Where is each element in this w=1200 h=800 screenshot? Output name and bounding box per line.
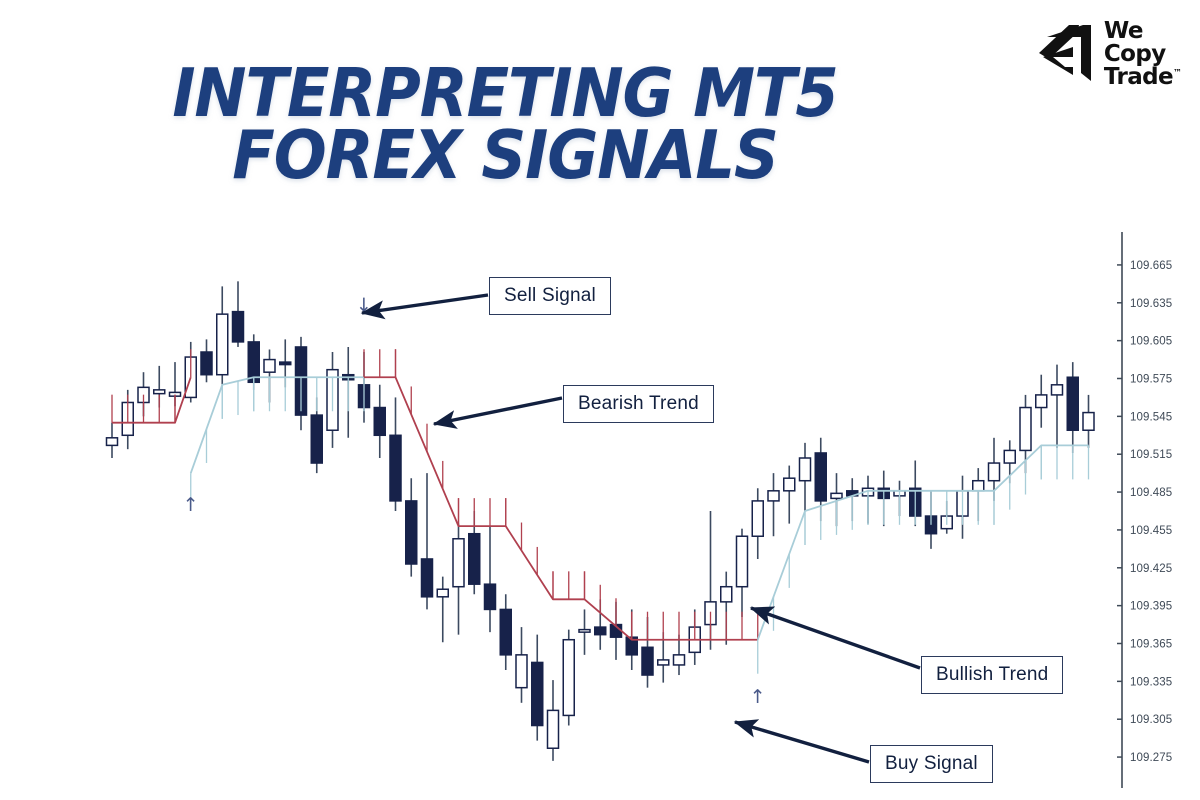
axis-tick-label: 109.335 <box>1130 676 1172 688</box>
candle <box>548 680 559 761</box>
candle <box>485 526 496 632</box>
candle <box>563 630 574 726</box>
signal-marker-buy: ↑ <box>750 686 766 708</box>
axis-tick-label: 109.575 <box>1130 374 1172 386</box>
annotation-buy-signal: Buy Signal <box>870 745 993 783</box>
candle <box>532 635 543 741</box>
axis-tick-label: 109.455 <box>1130 525 1172 537</box>
axis-tick-label: 109.365 <box>1130 639 1172 651</box>
logo-line-3: Trade <box>1104 64 1173 90</box>
candle <box>217 286 228 384</box>
axis-tick-label: 109.515 <box>1130 449 1172 461</box>
poster-canvas: We Copy Trade™ INTERPRETING MT5 FOREX SI… <box>0 0 1200 800</box>
title-line-1: INTERPRETING MT5 <box>35 62 974 124</box>
candle <box>390 397 401 511</box>
logo-wordmark: We Copy Trade™ <box>1104 20 1182 88</box>
signal-marker-buy: ↑ <box>183 494 199 516</box>
annotation-bullish-trend: Bullish Trend <box>921 656 1063 694</box>
axis-tick-label: 109.275 <box>1130 752 1172 764</box>
candle <box>374 385 385 458</box>
candle <box>516 627 527 703</box>
trademark-symbol: ™ <box>1173 68 1182 78</box>
candle <box>406 478 417 576</box>
candle <box>1083 395 1094 448</box>
axis-tick-label: 109.635 <box>1130 298 1172 310</box>
arrow-bullish-trend <box>751 608 920 668</box>
candle <box>453 524 464 635</box>
axis-tick-label: 109.395 <box>1130 601 1172 613</box>
arrow-bearish-trend <box>434 398 562 424</box>
axis-tick-label: 109.605 <box>1130 336 1172 348</box>
candle <box>800 443 811 511</box>
axis-tick-label: 109.485 <box>1130 487 1172 499</box>
axis-tick-label: 109.305 <box>1130 714 1172 726</box>
we-copy-trade-logo: We Copy Trade™ <box>1039 20 1182 88</box>
axis-tick-label: 109.425 <box>1130 563 1172 575</box>
candle <box>107 423 118 458</box>
candle <box>437 577 448 643</box>
annotation-bearish-trend: Bearish Trend <box>563 385 714 423</box>
candle <box>674 635 685 675</box>
candle <box>768 473 779 536</box>
candle <box>1052 365 1063 448</box>
annotation-sell-signal: Sell Signal <box>489 277 611 315</box>
candle <box>422 473 433 609</box>
axis-tick-label: 109.545 <box>1130 411 1172 423</box>
candle <box>784 466 795 524</box>
candle <box>579 609 590 654</box>
arrow-buy-signal <box>735 722 869 762</box>
candle <box>233 281 244 347</box>
candle <box>1036 375 1047 428</box>
candle <box>752 488 763 559</box>
candle <box>737 529 748 617</box>
arrow-sell-signal <box>362 295 488 313</box>
candle <box>500 594 511 670</box>
page-title: INTERPRETING MT5 FOREX SIGNALS <box>0 62 1010 187</box>
price-axis: 109.665109.635109.605109.575109.545109.5… <box>1117 232 1172 788</box>
axis-tick-label: 109.665 <box>1130 260 1172 272</box>
candle <box>201 339 212 382</box>
arrow-chevron-logo-icon <box>1039 23 1095 85</box>
candle <box>1067 362 1078 453</box>
title-line-2: FOREX SIGNALS <box>35 124 974 186</box>
